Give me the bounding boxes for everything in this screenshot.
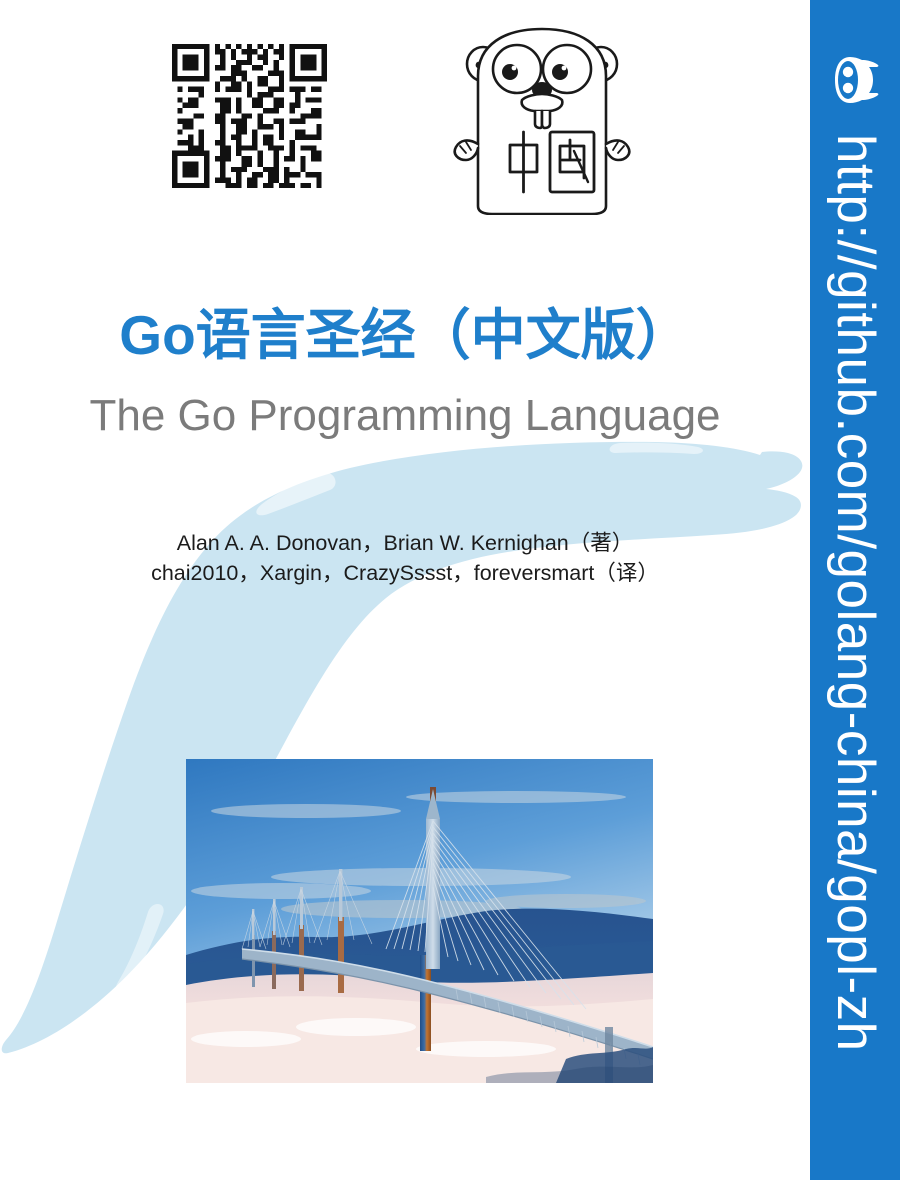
go-gopher-mascot-icon xyxy=(452,20,632,215)
github-octocat-icon[interactable] xyxy=(828,52,884,108)
millau-viaduct-bridge-photo xyxy=(186,759,653,1083)
book-cover: Go语言圣经（中文版） The Go Programming Language … xyxy=(0,0,900,1180)
page-subtitle-english: The Go Programming Language xyxy=(0,392,810,440)
authors-block: Alan A. A. Donovan，Brian W. Kernighan（著）… xyxy=(0,528,810,588)
github-url-sidebar: http://github.com/golang-china/gopl-zh xyxy=(810,0,900,1180)
github-url-text[interactable]: http://github.com/golang-china/gopl-zh xyxy=(810,130,900,1130)
page-title-chinese: Go语言圣经（中文版） xyxy=(0,307,810,365)
authors-line-translators: chai2010，Xargin，CrazySssst，foreversmart（… xyxy=(0,558,810,588)
authors-line-original: Alan A. A. Donovan，Brian W. Kernighan（著） xyxy=(0,528,810,558)
qr-code-icon[interactable] xyxy=(172,27,327,205)
